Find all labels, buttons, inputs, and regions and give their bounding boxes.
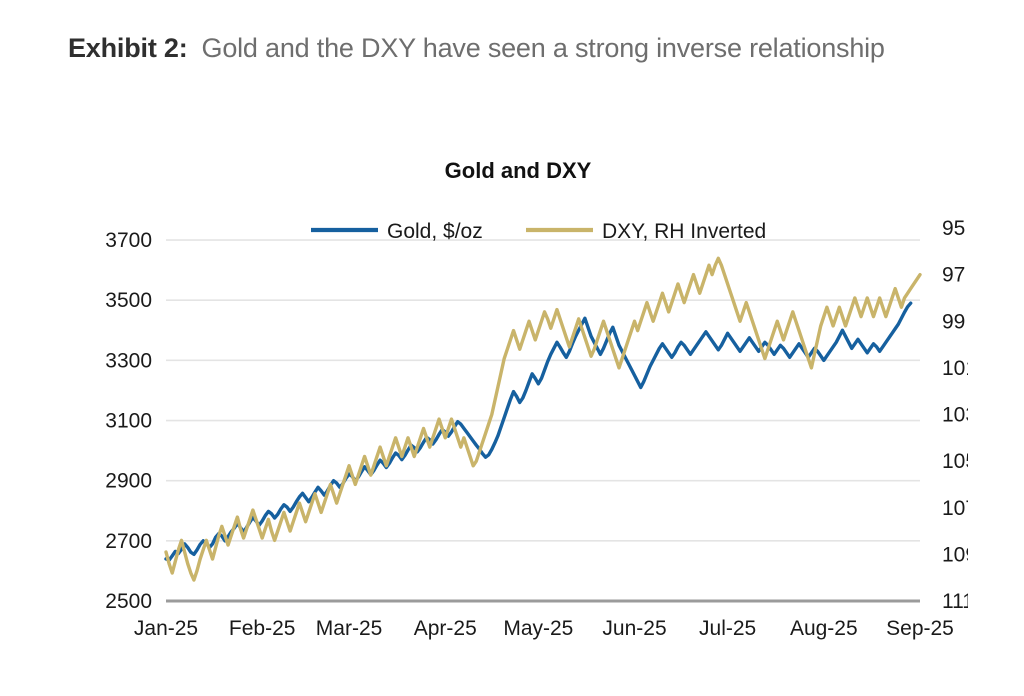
x-axis-tick-label: Jan-25	[134, 617, 198, 640]
x-axis-tick-label: Mar-25	[316, 617, 383, 640]
right-axis-tick-label: 105	[942, 450, 968, 473]
left-axis-tick-label: 2500	[105, 590, 152, 613]
chart-title: Gold and DXY	[445, 158, 592, 183]
chart-figure: 3700350033003100290027002500 95979910110…	[68, 140, 968, 660]
right-axis-tick-label: 97	[942, 264, 965, 287]
series-line-gold	[166, 303, 911, 560]
exhibit-label: Exhibit 2:	[68, 33, 188, 63]
legend-label-gold: Gold, $/oz	[387, 220, 483, 243]
x-axis-tick-label: Jul-25	[699, 617, 756, 640]
left-axis-tick-label: 3500	[105, 289, 152, 312]
x-axis-tick-label: Aug-25	[790, 617, 858, 640]
right-axis-tick-label: 95	[942, 217, 965, 240]
series-line-dxy	[166, 258, 920, 580]
right-axis-tick-label: 109	[942, 543, 968, 566]
x-axis-tick-label: Feb-25	[229, 617, 296, 640]
series-group	[166, 258, 920, 580]
left-axis-tick-label: 3300	[105, 349, 152, 372]
exhibit-caption: Gold and the DXY have seen a strong inve…	[202, 33, 885, 63]
left-axis-tick-label: 2700	[105, 530, 152, 553]
left-axis-tick-labels: 3700350033003100290027002500	[105, 229, 152, 613]
right-axis-tick-label: 99	[942, 310, 965, 333]
right-axis-tick-label: 103	[942, 404, 968, 427]
x-axis-tick-label: Sep-25	[886, 617, 954, 640]
left-axis-tick-label: 3100	[105, 410, 152, 433]
gold-dxy-line-chart: 3700350033003100290027002500 95979910110…	[68, 140, 968, 660]
right-axis-tick-label: 111	[942, 590, 968, 613]
exhibit-header: Exhibit 2:Gold and the DXY have seen a s…	[68, 26, 948, 70]
x-axis-tick-label: May-25	[503, 617, 573, 640]
right-axis-tick-labels: 959799101103105107109111	[942, 217, 968, 613]
left-axis-tick-label: 3700	[105, 229, 152, 252]
right-axis-tick-label: 107	[942, 497, 968, 520]
left-axis-tick-label: 2900	[105, 470, 152, 493]
legend-label-dxy: DXY, RH Inverted	[602, 220, 766, 243]
x-axis-tick-label: Jun-25	[602, 617, 666, 640]
x-axis-tick-labels: Jan-25Feb-25Mar-25Apr-25May-25Jun-25Jul-…	[134, 617, 954, 640]
gridlines-group	[166, 240, 920, 601]
right-axis-tick-label: 101	[942, 357, 968, 380]
x-axis-tick-label: Apr-25	[414, 617, 477, 640]
